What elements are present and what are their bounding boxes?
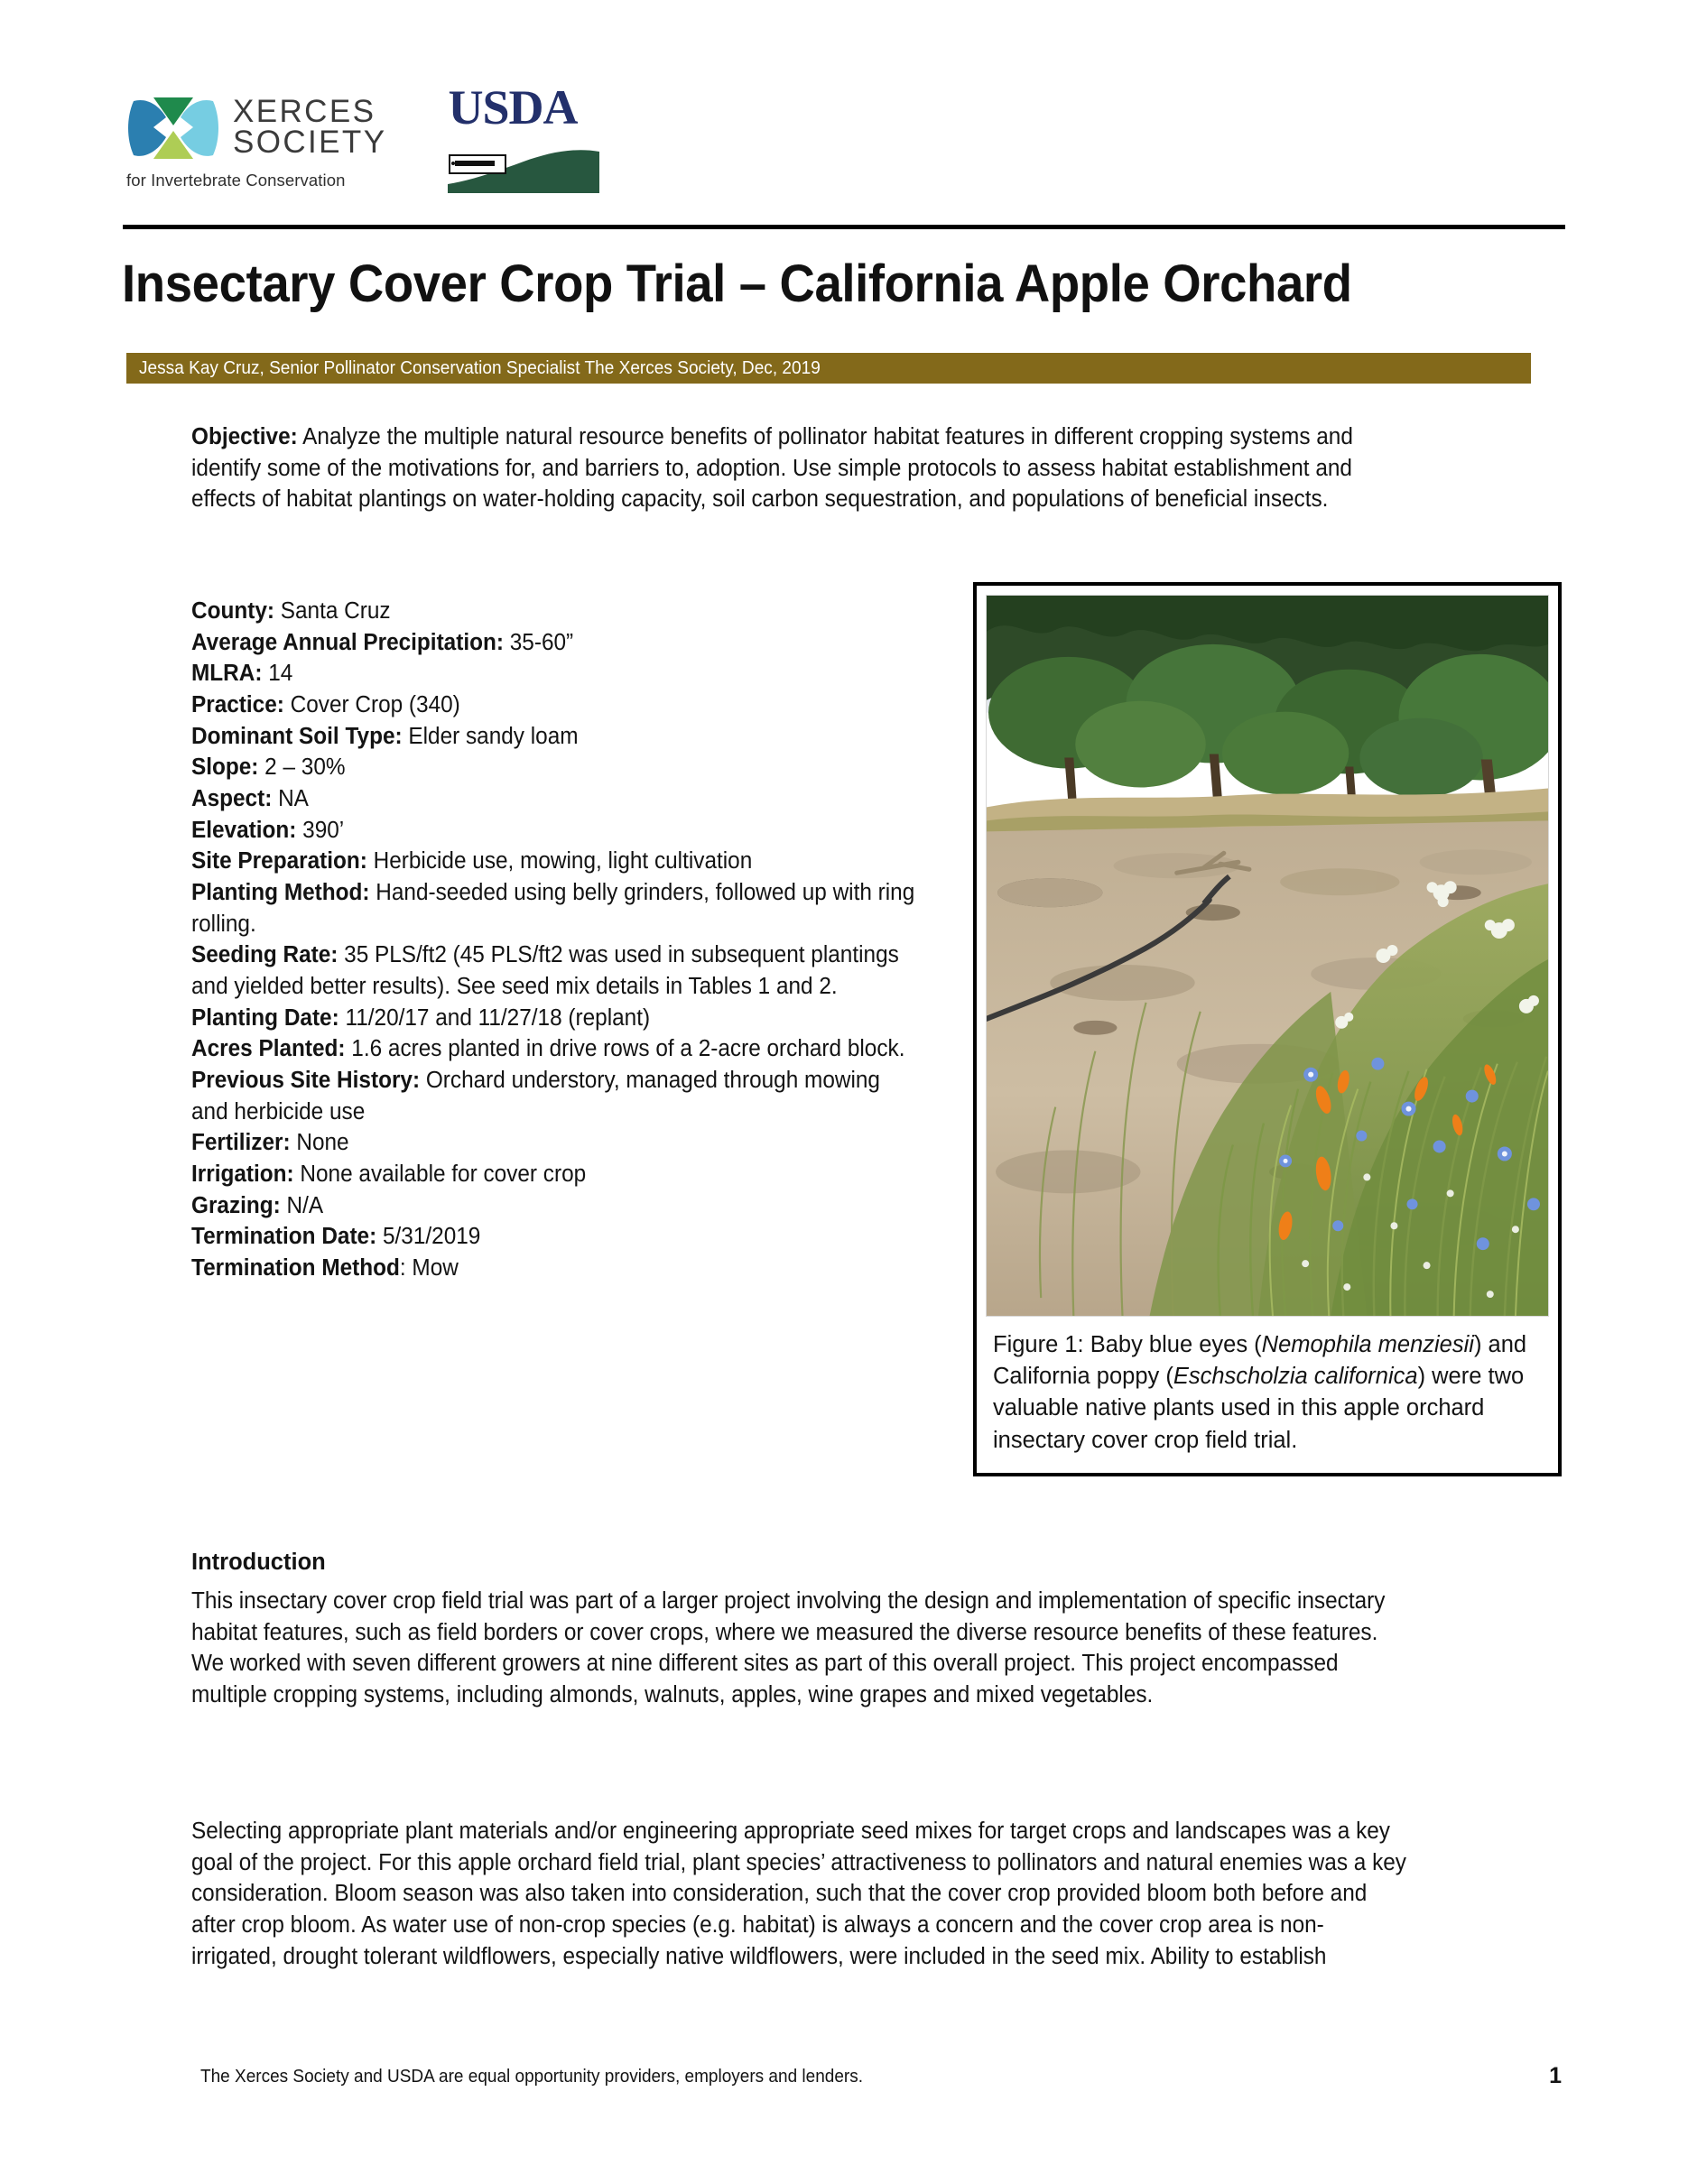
detail-label: Irrigation: [191, 1161, 294, 1187]
detail-row: Dominant Soil Type: Elder sandy loam [191, 721, 921, 753]
detail-row: Termination Method: Mow [191, 1253, 921, 1284]
detail-row: Termination Date: 5/31/2019 [191, 1221, 921, 1253]
detail-value: NA [272, 786, 309, 811]
detail-label: Practice: [191, 692, 284, 717]
detail-label: Elevation: [191, 818, 296, 843]
detail-label: Average Annual Precipitation: [191, 630, 504, 655]
detail-label: MLRA: [191, 661, 262, 686]
detail-label: County: [191, 598, 274, 624]
xerces-wordmark-line2: SOCIETY [233, 127, 386, 158]
detail-row: County: Santa Cruz [191, 596, 921, 627]
detail-row: Planting Method: Hand-seeded using belly… [191, 877, 921, 939]
species-name-nemophila: Nemophila menziesii [1262, 1332, 1474, 1357]
detail-value: : Mow [400, 1255, 459, 1281]
byline-bar: Jessa Kay Cruz, Senior Pollinator Conser… [126, 353, 1531, 384]
detail-row: Site Preparation: Herbicide use, mowing,… [191, 846, 921, 877]
detail-row: Grazing: N/A [191, 1190, 921, 1222]
detail-label: Seeding Rate: [191, 942, 338, 967]
detail-row: Practice: Cover Crop (340) [191, 689, 921, 721]
detail-row: Elevation: 390’ [191, 815, 921, 847]
detail-value: 14 [262, 661, 292, 686]
detail-label: Aspect: [191, 786, 272, 811]
xerces-society-logo: XERCES SOCIETY for Invertebrate Conserva… [126, 88, 386, 190]
orchard-cover-crop-photo [986, 595, 1549, 1317]
document-page: XERCES SOCIETY for Invertebrate Conserva… [0, 0, 1688, 2184]
detail-row: Planting Date: 11/20/17 and 11/27/18 (re… [191, 1003, 921, 1034]
detail-row: Acres Planted: 1.6 acres planted in driv… [191, 1033, 921, 1065]
introduction-heading: Introduction [191, 1550, 326, 1576]
page-title: Insectary Cover Crop Trial – California … [122, 254, 1479, 314]
species-name-eschscholzia: Eschscholzia californica [1173, 1364, 1418, 1389]
detail-row: MLRA: 14 [191, 658, 921, 689]
objective-text: Analyze the multiple natural resource be… [191, 424, 1353, 512]
detail-value: None [291, 1130, 349, 1155]
detail-value: 2 – 30% [258, 754, 345, 780]
detail-value: None available for cover crop [294, 1161, 587, 1187]
introduction-paragraph-2-text: Selecting appropriate plant materials an… [191, 1816, 1408, 1972]
detail-label: Termination Method [191, 1255, 400, 1281]
footer-page-number: 1 [1549, 2063, 1562, 2089]
header-divider-rule [123, 225, 1565, 229]
detail-value: Santa Cruz [274, 598, 391, 624]
xerces-tagline: for Invertebrate Conservation [126, 171, 346, 190]
logo-row: XERCES SOCIETY for Invertebrate Conserva… [126, 83, 599, 195]
detail-row: Irrigation: None available for cover cro… [191, 1159, 921, 1190]
introduction-paragraph-1: This insectary cover crop field trial wa… [191, 1586, 1466, 1711]
site-details-list: County: Santa CruzAverage Annual Precipi… [191, 596, 955, 1284]
objective-paragraph: Objective: Analyze the multiple natural … [191, 421, 1455, 515]
detail-row: Slope: 2 – 30% [191, 752, 921, 783]
detail-row: Aspect: NA [191, 783, 921, 815]
detail-label: Slope: [191, 754, 258, 780]
detail-row: Previous Site History: Orchard understor… [191, 1065, 921, 1127]
xerces-wordmark-line1: XERCES [233, 97, 386, 127]
detail-value: N/A [281, 1193, 323, 1218]
footer-disclaimer: The Xerces Society and USDA are equal op… [200, 2067, 863, 2087]
detail-value: 11/20/17 and 11/27/18 (replant) [339, 1005, 650, 1031]
detail-value: 1.6 acres planted in drive rows of a 2-a… [346, 1036, 905, 1061]
xerces-butterfly-icon [126, 88, 220, 166]
detail-label: Dominant Soil Type: [191, 724, 403, 749]
detail-label: Termination Date: [191, 1224, 376, 1249]
detail-value: 35-60” [504, 630, 573, 655]
detail-label: Planting Date: [191, 1005, 339, 1031]
detail-value: Cover Crop (340) [284, 692, 460, 717]
objective-label: Objective: [191, 424, 298, 449]
detail-label: Planting Method: [191, 880, 370, 905]
usda-logo: USDA [448, 83, 599, 195]
figure-1: Figure 1: Baby blue eyes (Nemophila menz… [973, 582, 1562, 1476]
figure-1-caption: Figure 1: Baby blue eyes (Nemophila menz… [986, 1317, 1549, 1464]
introduction-paragraph-2: Selecting appropriate plant materials an… [191, 1816, 1466, 1972]
detail-row: Seeding Rate: 35 PLS/ft2 (45 PLS/ft2 was… [191, 939, 921, 1002]
detail-label: Acres Planted: [191, 1036, 346, 1061]
usda-landscape-icon [448, 132, 599, 195]
detail-value: Elder sandy loam [403, 724, 579, 749]
detail-value: 5/31/2019 [376, 1224, 480, 1249]
detail-label: Previous Site History: [191, 1068, 420, 1093]
detail-label: Site Preparation: [191, 848, 367, 874]
introduction-paragraph-1-text: This insectary cover crop field trial wa… [191, 1586, 1408, 1711]
detail-value: 390’ [296, 818, 344, 843]
detail-row: Average Annual Precipitation: 35-60” [191, 627, 921, 659]
detail-label: Grazing: [191, 1193, 281, 1218]
usda-wordmark: USDA [448, 83, 599, 132]
detail-row: Fertilizer: None [191, 1127, 921, 1159]
caption-prefix: Figure 1: Baby blue eyes ( [993, 1332, 1262, 1357]
detail-value: Herbicide use, mowing, light cultivation [367, 848, 752, 874]
detail-label: Fertilizer: [191, 1130, 291, 1155]
byline-text: Jessa Kay Cruz, Senior Pollinator Conser… [139, 357, 821, 379]
